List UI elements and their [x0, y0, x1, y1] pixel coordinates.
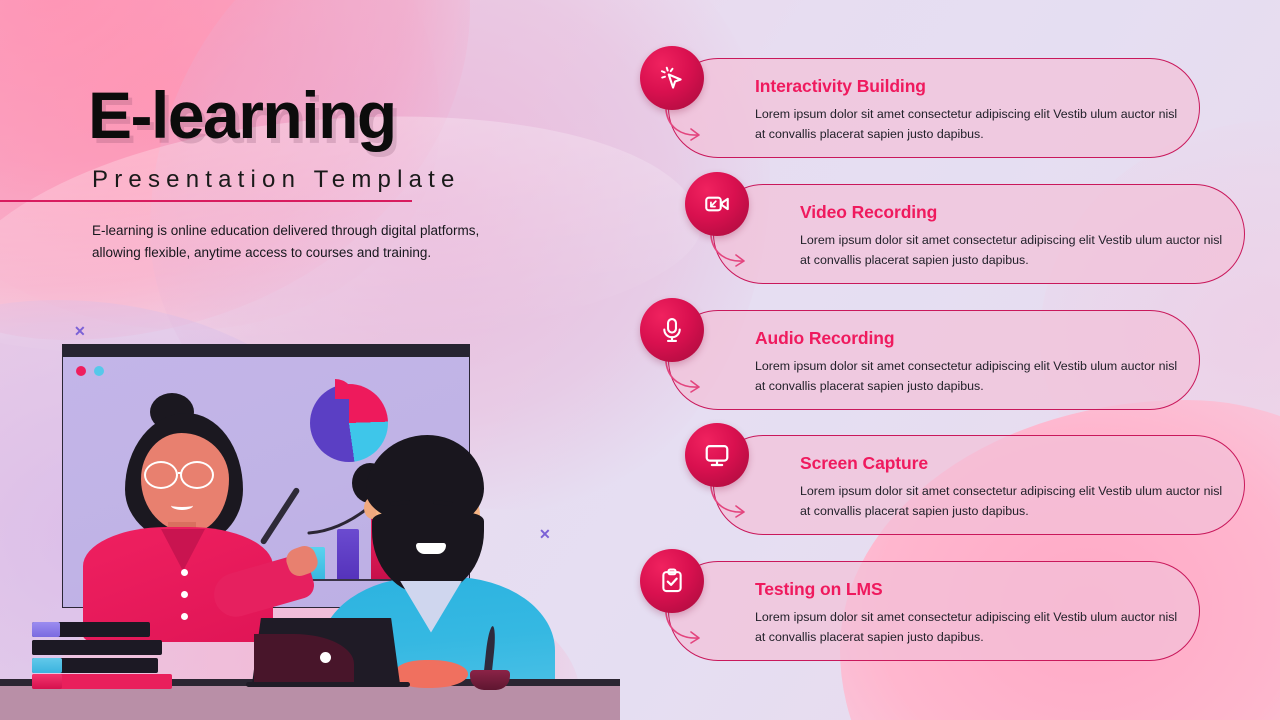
curved-arrow-icon: [707, 485, 751, 521]
book-spine: [32, 658, 62, 673]
feature-title: Audio Recording: [755, 328, 894, 349]
teacher-smile: [171, 501, 193, 510]
plant-graphic: [468, 626, 512, 688]
feature-title: Interactivity Building: [755, 76, 926, 97]
teacher-button: [181, 591, 188, 598]
plant-pot: [470, 670, 510, 690]
book-spine: [32, 674, 62, 689]
left-column: E-learning Presentation Template E-learn…: [0, 0, 620, 720]
pie-chart-exploded-slice: [315, 379, 355, 419]
feature-icon-badge[interactable]: [640, 298, 704, 362]
book-spine: [32, 640, 58, 655]
feature-item[interactable]: Testing on LMS Lorem ipsum dolor sit ame…: [640, 561, 1200, 666]
laptop-logo-icon: [320, 652, 331, 663]
feature-icon-badge[interactable]: [640, 46, 704, 110]
feature-icon-badge[interactable]: [685, 172, 749, 236]
curved-arrow-icon: [662, 108, 706, 144]
teacher-button: [181, 613, 188, 620]
browser-title-bar: [62, 344, 470, 357]
feature-title: Testing on LMS: [755, 579, 883, 600]
clipboard-check-icon: [658, 567, 686, 595]
feature-body: Lorem ipsum dolor sit amet consectetur a…: [800, 230, 1230, 270]
feature-list: Interactivity Building Lorem ipsum dolor…: [620, 0, 1280, 720]
teacher-button: [181, 569, 188, 576]
feature-icon-badge[interactable]: [640, 549, 704, 613]
presentation-slide: E-learning Presentation Template E-learn…: [0, 0, 1280, 720]
feature-body: Lorem ipsum dolor sit amet consectetur a…: [755, 104, 1185, 144]
curved-arrow-icon: [662, 360, 706, 396]
teacher-glasses-right: [180, 461, 214, 489]
pointer-stick-graphic: [260, 487, 301, 546]
feature-body: Lorem ipsum dolor sit amet consectetur a…: [800, 481, 1230, 521]
laptop-base: [246, 682, 410, 687]
microphone-icon: [658, 316, 686, 344]
feature-item[interactable]: Video Recording Lorem ipsum dolor sit am…: [685, 184, 1245, 289]
curved-arrow-icon: [707, 234, 751, 270]
laptop-graphic: [252, 618, 400, 684]
lead-paragraph: E-learning is online education delivered…: [92, 220, 492, 265]
feature-icon-badge[interactable]: [685, 423, 749, 487]
curved-arrow-icon: [662, 611, 706, 647]
video-camera-icon: [703, 190, 731, 218]
cursor-click-icon: [658, 64, 686, 92]
window-dot-blue-icon: [94, 366, 104, 376]
title-divider: [0, 200, 412, 202]
page-subtitle: Presentation Template: [92, 166, 461, 194]
feature-item[interactable]: Interactivity Building Lorem ipsum dolor…: [640, 58, 1200, 163]
window-dot-red-icon: [76, 366, 86, 376]
book-stack-graphic: [32, 622, 172, 690]
feature-body: Lorem ipsum dolor sit amet consectetur a…: [755, 356, 1185, 396]
page-title: E-learning: [88, 82, 396, 148]
teacher-glasses-bridge: [178, 472, 182, 474]
feature-item[interactable]: Audio Recording Lorem ipsum dolor sit am…: [640, 310, 1200, 415]
feature-title: Video Recording: [800, 202, 937, 223]
student-mouth: [416, 543, 446, 554]
feature-title: Screen Capture: [800, 453, 928, 474]
feature-item[interactable]: Screen Capture Lorem ipsum dolor sit ame…: [685, 435, 1245, 540]
online-classroom-illustration: [0, 330, 620, 720]
book-spine: [32, 622, 60, 637]
feature-body: Lorem ipsum dolor sit amet consectetur a…: [755, 607, 1185, 647]
teacher-glasses-left: [144, 461, 178, 489]
monitor-icon: [703, 441, 731, 469]
